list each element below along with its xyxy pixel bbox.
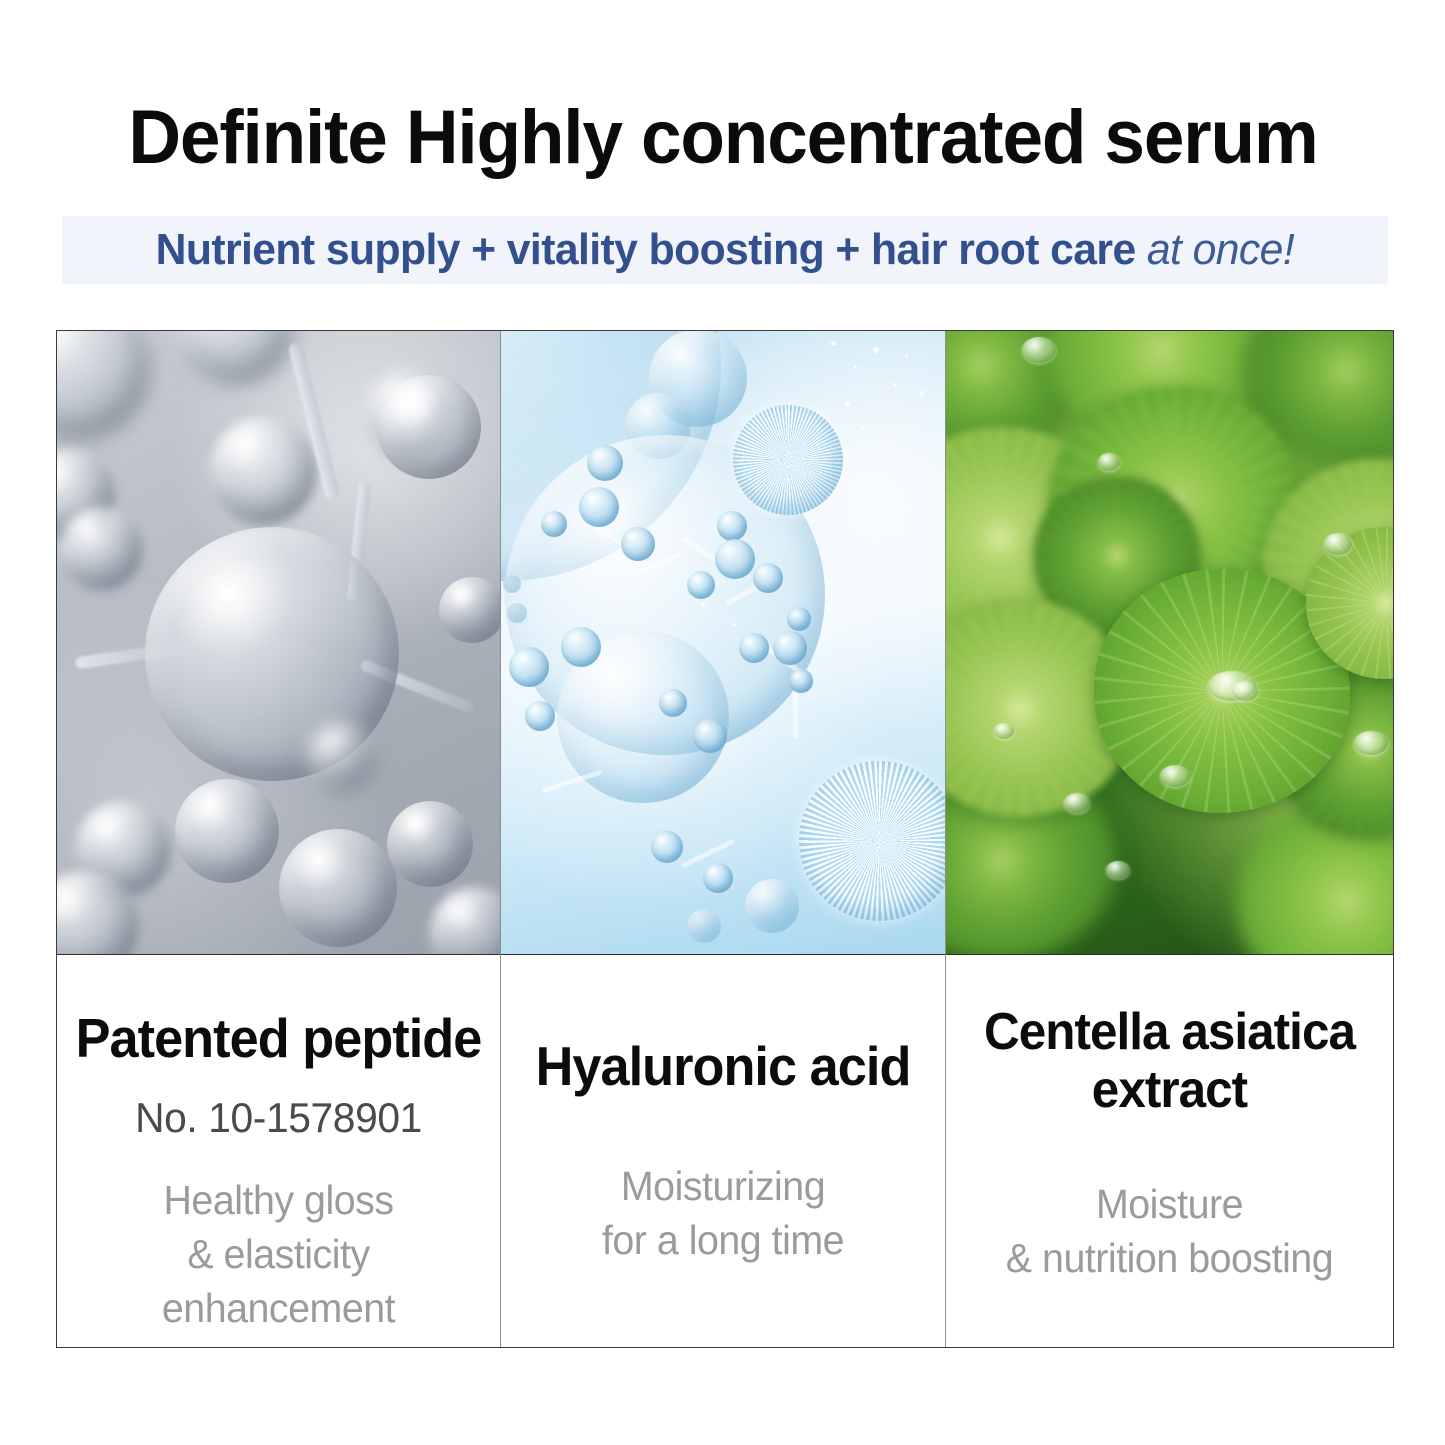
- centella-caption: Centella asiatica extract Moisture & nut…: [946, 955, 1393, 1347]
- ingredient-column-hyaluronic: Hyaluronic acid Moisturizing for a long …: [501, 331, 946, 1347]
- peptide-molecule-photo: [57, 331, 500, 955]
- subtitle-suffix: at once!: [1136, 225, 1294, 274]
- peptide-caption: Patented peptide No. 10-1578901 Healthy …: [57, 955, 500, 1347]
- centella-description-line1: Moisture: [959, 1177, 1380, 1231]
- centella-title-line2: extract: [963, 1061, 1376, 1119]
- hyaluronic-water-photo: [501, 331, 945, 955]
- ingredient-title-peptide: Patented peptide: [74, 1007, 483, 1069]
- ingredient-title-hyaluronic: Hyaluronic acid: [518, 1035, 928, 1097]
- peptide-description-line2: & elasticity enhancement: [70, 1227, 488, 1335]
- peptide-description: Healthy gloss & elasticity enhancement: [70, 1173, 488, 1335]
- peptide-description-line1: Healthy gloss: [70, 1173, 488, 1227]
- centella-title-line1: Centella asiatica: [963, 1003, 1376, 1061]
- ingredient-grid: Patented peptide No. 10-1578901 Healthy …: [56, 330, 1394, 1348]
- subtitle-text: Nutrient supply + vitality boosting + ha…: [156, 225, 1295, 275]
- patent-number: No. 10-1578901: [69, 1093, 487, 1143]
- ingredient-title-centella: Centella asiatica extract: [963, 1003, 1376, 1119]
- hyaluronic-caption: Hyaluronic acid Moisturizing for a long …: [501, 955, 945, 1347]
- hyaluronic-description-line2: for a long time: [514, 1213, 933, 1267]
- hyaluronic-description: Moisturizing for a long time: [514, 1159, 933, 1267]
- ingredient-column-peptide: Patented peptide No. 10-1578901 Healthy …: [57, 331, 501, 1347]
- centella-description-line2: & nutrition boosting: [959, 1231, 1380, 1285]
- centella-description: Moisture & nutrition boosting: [959, 1177, 1380, 1285]
- subtitle-benefits: Nutrient supply + vitality boosting + ha…: [156, 225, 1136, 274]
- hyaluronic-description-line1: Moisturizing: [514, 1159, 933, 1213]
- centella-leaf-photo: [946, 331, 1393, 955]
- page-title: Definite Highly concentrated serum: [69, 95, 1377, 181]
- subtitle-banner: Nutrient supply + vitality boosting + ha…: [62, 216, 1388, 284]
- ingredient-column-centella: Centella asiatica extract Moisture & nut…: [946, 331, 1393, 1347]
